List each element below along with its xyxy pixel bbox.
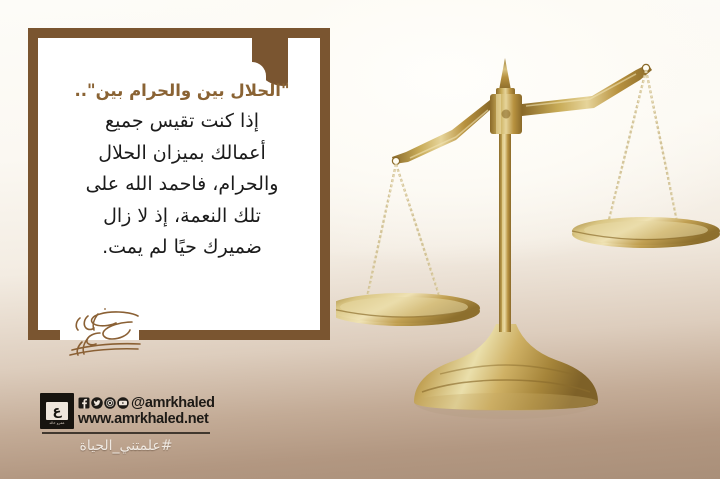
handwritten-signature [58,300,154,362]
amr-khaled-logo-badge: ع عمرو خالد [40,393,74,429]
campaign-hashtag[interactable]: #علمتني_الحياة [42,438,210,454]
quote-text-block: "الحلال بين والحرام بين".. إذا كنت تقيس … [40,78,318,264]
scale-beam [392,64,652,165]
quote-body-line: والحرام، فاحمد الله على [50,169,314,201]
card-border-bottom-left [28,330,60,340]
facebook-icon[interactable] [78,397,90,409]
badge-glyph: ع [46,402,68,420]
card-border-right [320,28,330,340]
instagram-icon[interactable] [104,397,116,409]
branding-row: ع عمرو خالد [40,393,210,429]
card-border-left [28,28,38,340]
quote-body-line: تلك النعمة، إذ لا زال [50,201,314,233]
social-icons-row: @amrkhaled [78,396,215,411]
branding-block: ع عمرو خالد [40,393,210,454]
branding-divider [42,432,210,434]
twitter-icon[interactable] [91,397,103,409]
social-handle[interactable]: @amrkhaled [131,396,215,411]
scale-column [499,110,511,332]
card-border-bottom-right [139,330,330,340]
card-border-top-left [28,28,252,38]
quote-body-line: أعمالك بميزان الحلال [50,138,314,170]
scale-pivot [490,94,522,134]
branding-text: @amrkhaled www.amrkhaled.net [78,396,215,426]
quote-body-line: إذا كنت تقيس جميع [50,106,314,138]
badge-caption: عمرو خالد [45,420,69,426]
youtube-icon[interactable] [117,397,129,409]
quote-body-line: ضميرك حيًا لم يمت. [50,232,314,264]
balance-scale-illustration [336,18,720,438]
scale-base [414,324,598,419]
scale-pan-left [336,164,480,326]
poster-canvas: "الحلال بين والحرام بين".. إذا كنت تقيس … [0,0,720,479]
quote-lead-line: "الحلال بين والحرام بين".. [50,78,314,104]
website-url[interactable]: www.amrkhaled.net [78,412,215,427]
quote-body: إذا كنت تقيس جميع أعمالك بميزان الحلال و… [50,106,314,264]
scale-finial [496,58,515,96]
